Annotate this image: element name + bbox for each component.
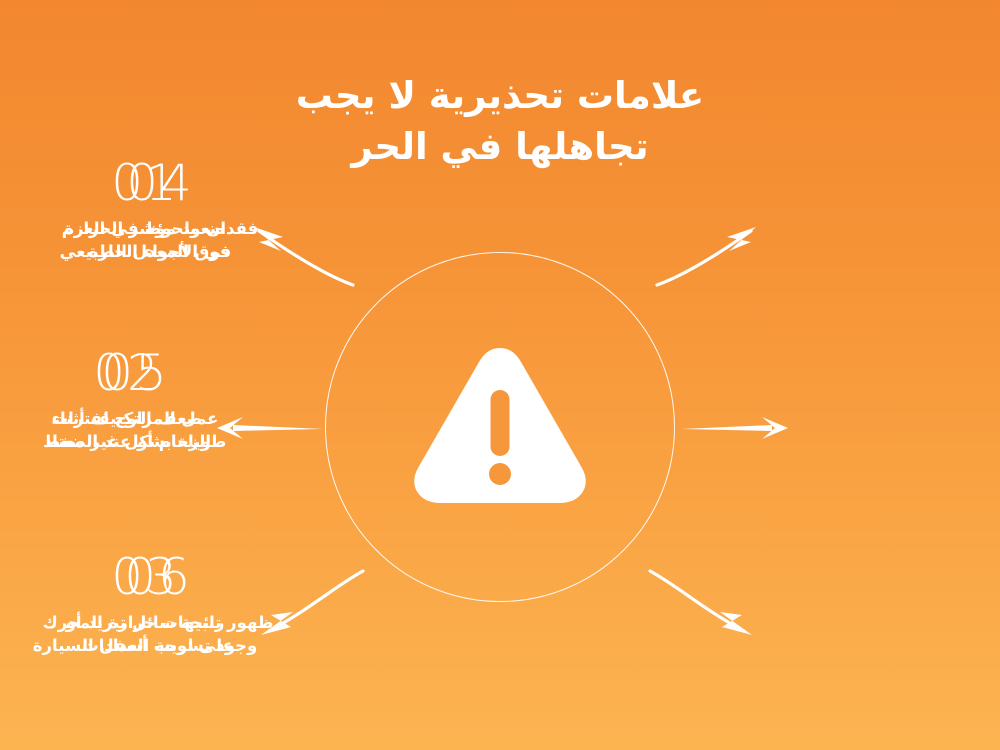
infographic-poster: علامات تحذيرية لا يجب تجاهلها في الحر <box>0 0 1000 750</box>
list-item-04: 04 فقدان ملحوظ في العزم في الأجواء الحار… <box>35 158 285 264</box>
item-description: ظهور تنبيهات حرارة المحرك على لوحة العدا… <box>33 611 283 658</box>
item-description-line-2: في الأجواء الحارة <box>35 240 285 263</box>
item-description-line-1: عمل المراوح لفترات <box>10 407 260 430</box>
page-title-line-1: علامات تحذيرية لا يجب <box>0 70 1000 121</box>
curved-arrow-up-right-icon <box>655 205 775 290</box>
item-description-line-2: على لوحة العدادات <box>33 634 283 657</box>
straight-arrow-right-icon <box>680 404 795 452</box>
list-item-06: 06 ظهور تنبيهات حرارة المحرك على لوحة ال… <box>33 552 283 658</box>
item-description-line-2: طويلة بشكل غير معتاد <box>10 430 260 453</box>
list-item-05: 05 عمل المراوح لفترات طويلة بشكل غير معت… <box>10 348 260 454</box>
item-number: 06 <box>33 552 283 602</box>
item-description-line-1: فقدان ملحوظ في العزم <box>35 217 285 240</box>
item-description: عمل المراوح لفترات طويلة بشكل غير معتاد <box>10 407 260 454</box>
item-description-line-1: ظهور تنبيهات حرارة المحرك <box>33 611 283 634</box>
item-number: 04 <box>35 158 285 208</box>
warning-triangle-icon <box>410 338 590 518</box>
item-number: 05 <box>10 348 260 398</box>
item-description: فقدان ملحوظ في العزم في الأجواء الحارة <box>35 217 285 264</box>
curved-arrow-down-right-icon <box>648 565 773 655</box>
